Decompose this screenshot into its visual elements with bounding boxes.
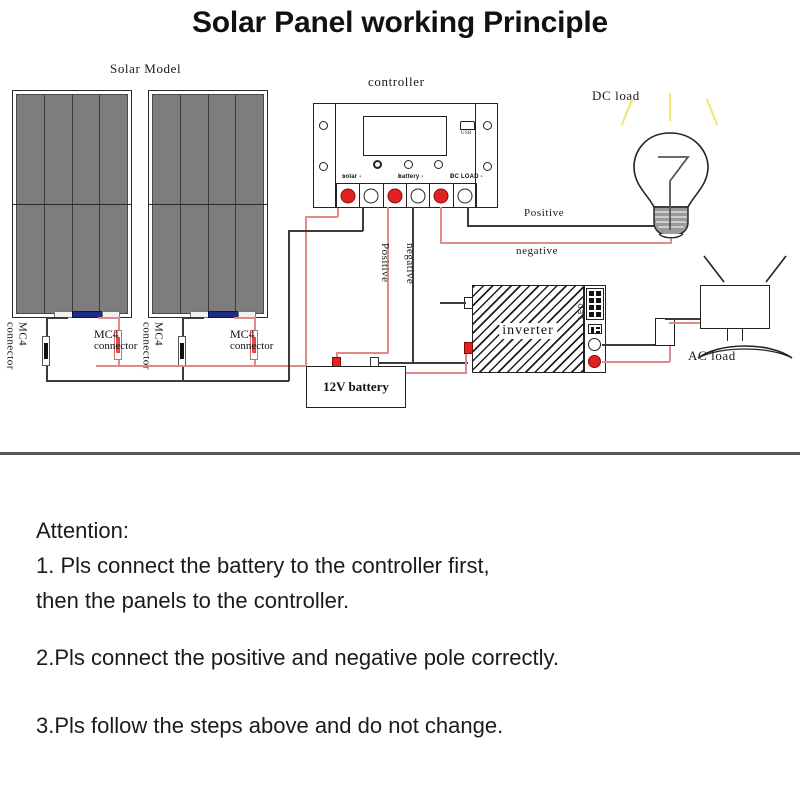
solar-panel-1: [12, 90, 132, 318]
inverter-label: inverter: [499, 323, 557, 339]
attention-heading: Attention:: [36, 518, 129, 544]
terminal-solar-positive[interactable]: [337, 184, 360, 207]
wire-ac-live-h: [602, 361, 670, 363]
mc4-connector-1: [42, 336, 50, 366]
mc4-label-2: MC4 connector: [94, 328, 137, 352]
controller-button-2[interactable]: [404, 160, 413, 169]
label-negative-vertical: negative: [404, 243, 416, 299]
mounting-hole-top-right: [483, 121, 492, 130]
inverter-dc-positive-input: [464, 342, 473, 354]
charge-controller[interactable]: USB + solar - + battery - + DC LOAD -: [313, 103, 498, 208]
mc4-label-4: MC4 connector: [230, 328, 273, 352]
wire-solar-neg-bus: [46, 380, 289, 382]
attention-line-4: 3.Pls follow the steps above and do not …: [36, 713, 503, 739]
wire-dcload-pos-stub: [467, 207, 469, 226]
mounting-hole-bottom-right: [483, 162, 492, 171]
wire-solar-neg-stub: [362, 207, 364, 231]
inverter: inverter: [472, 285, 584, 373]
tv-signal-lines: [690, 252, 800, 292]
label-controller: controller: [368, 74, 425, 90]
solar-panel-2: [148, 90, 268, 318]
battery: 12V battery: [306, 366, 406, 408]
controller-left-ear: [314, 104, 336, 207]
dc-load-bulb: [612, 95, 732, 240]
terminal-solar-negative[interactable]: [360, 184, 383, 207]
wire-battery-neg-left: [374, 362, 414, 364]
terminal-battery-negative[interactable]: [407, 184, 430, 207]
controller-display: [363, 116, 447, 156]
wire-ac-neutral-h: [602, 344, 660, 346]
mc4-label-3: MC4: [152, 322, 164, 386]
wire-dcload-neg-stub: [440, 207, 442, 243]
attention-line-3: 2.Pls connect the positive and negative …: [36, 645, 559, 671]
attention-line-1: 1. Pls connect the battery to the contro…: [36, 553, 490, 579]
usb-icon: [460, 121, 475, 130]
wire-solar-pos-bus: [96, 365, 307, 367]
usb-label: USB: [461, 131, 472, 136]
label-positive-horizontal: Positive: [524, 207, 564, 219]
wire-inverter-neg: [412, 362, 468, 364]
mc4-label-3-connector: connector: [140, 322, 152, 386]
diagram-page: Solar Panel working Principle Solar Mode…: [0, 0, 800, 800]
attention-line-2: then the panels to the controller.: [36, 588, 349, 614]
terminal-dcload-positive[interactable]: [430, 184, 453, 207]
solar-panel-1-midline: [13, 204, 131, 205]
controller-terminal-row[interactable]: [336, 183, 477, 208]
inverter-small-display: [588, 324, 602, 334]
wire-p1-neg-top: [46, 317, 68, 319]
label-positive-vertical: Positive: [379, 243, 391, 299]
wire-adapter-to-tv-neg: [665, 318, 701, 320]
inverter-ac-neutral-port[interactable]: [588, 338, 601, 351]
inverter-led-grid: [586, 288, 604, 320]
wire-p1-pos-top: [98, 317, 120, 319]
label-solar-model: Solar Model: [110, 61, 181, 77]
wire-solar-pos-to-terminal: [305, 216, 338, 218]
solar-panel-2-midline: [149, 204, 267, 205]
mounting-hole-bottom-left: [319, 162, 328, 171]
wire-adapter-to-tv-pos: [669, 322, 701, 324]
controller-button-3[interactable]: [434, 160, 443, 169]
wire-battery-pos-left: [336, 352, 389, 354]
terminal-label-battery: + battery -: [398, 174, 424, 180]
mc4-label-1: MC4: [16, 322, 28, 386]
label-negative-horizontal: negative: [516, 245, 558, 257]
terminal-label-solar: + solar -: [342, 174, 361, 180]
wire-p2-pos-top: [234, 317, 256, 319]
wire-solar-neg-to-terminal: [288, 230, 363, 232]
controller-right-ear: [475, 104, 497, 207]
mc4-connector-3: [178, 336, 186, 366]
bulb-icon: [612, 95, 732, 240]
wire-p2-neg-top: [182, 317, 204, 319]
section-divider: [0, 452, 800, 455]
terminal-battery-positive[interactable]: [384, 184, 407, 207]
inverter-led-label: LED: [578, 289, 585, 319]
mc4-label-1-connector: connector: [4, 322, 16, 386]
terminal-label-dc-load: + DC LOAD -: [450, 174, 483, 180]
mounting-hole-top-left: [319, 121, 328, 130]
wire-dcload-neg-run: [440, 242, 672, 244]
wire-solar-pos-stub: [337, 207, 339, 217]
controller-button-1[interactable]: [373, 160, 382, 169]
page-title: Solar Panel working Principle: [0, 6, 800, 40]
terminal-dcload-negative[interactable]: [454, 184, 476, 207]
inverter-ac-live-port[interactable]: [588, 355, 601, 368]
wire-inverter-in-neg: [440, 302, 466, 304]
wire-solar-neg-riser: [288, 230, 290, 381]
wire-solar-pos-riser: [305, 216, 307, 366]
tv-stand: [690, 336, 800, 366]
